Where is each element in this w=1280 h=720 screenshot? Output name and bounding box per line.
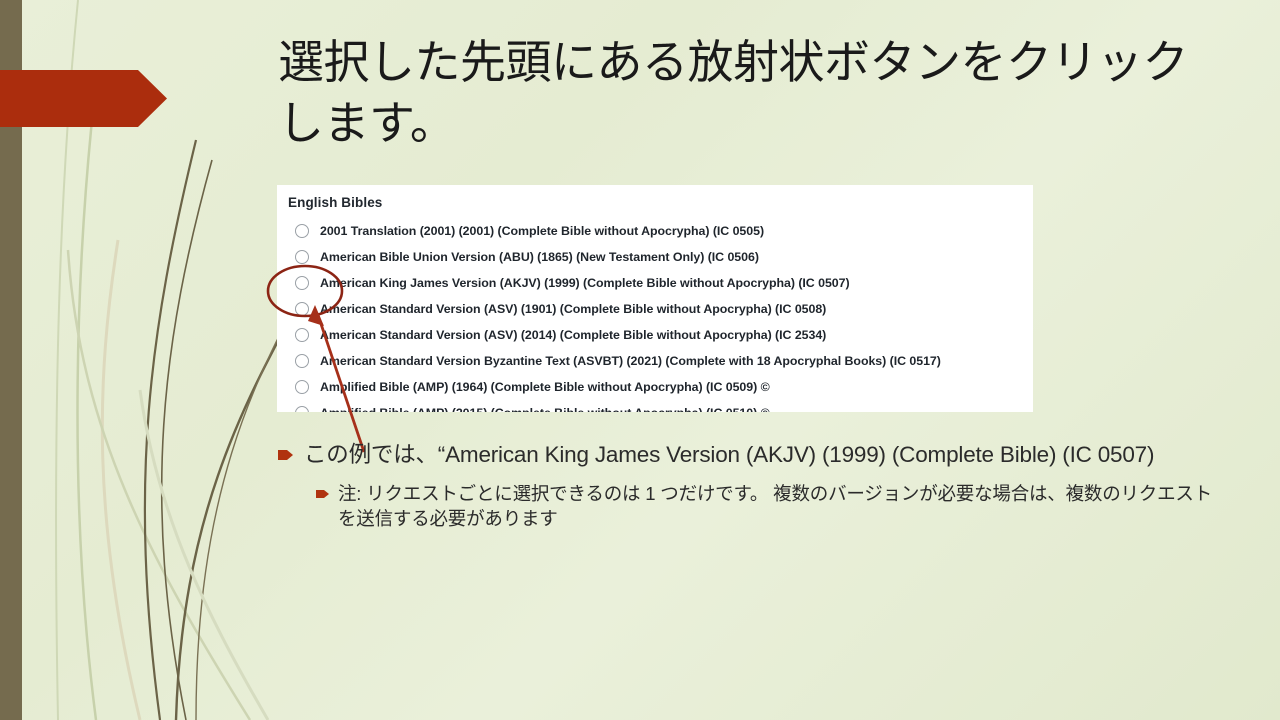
list-item[interactable]: American Standard Version (ASV) (1901) (… [277, 296, 1033, 322]
bible-option-list: 2001 Translation (2001) (2001) (Complete… [277, 218, 1033, 412]
slide-canvas: 選択した先頭にある放射状ボタンをクリックします。 English Bibles … [0, 0, 1280, 720]
bullet-text: 注: リクエストごとに選択できるのは 1 つだけです。 複数のバージョンが必要な… [338, 482, 1213, 532]
radio-button-icon[interactable] [295, 406, 309, 412]
radio-button-icon[interactable] [295, 328, 309, 342]
list-item-akjv[interactable]: American King James Version (AKJV) (1999… [277, 270, 1033, 296]
list-item-label: American King James Version (AKJV) (1999… [320, 276, 850, 290]
radio-button-icon[interactable] [295, 224, 309, 238]
list-item-label: American Bible Union Version (ABU) (1865… [320, 250, 759, 264]
bullet-item-primary: この例では、“American King James Version (AKJV… [278, 440, 1213, 470]
bullet-item-secondary: 注: リクエストごとに選択できるのは 1 つだけです。 複数のバージョンが必要な… [316, 482, 1213, 532]
panel-heading: English Bibles [288, 195, 382, 210]
list-item[interactable]: American Standard Version Byzantine Text… [277, 348, 1033, 374]
list-item-label: American Standard Version (ASV) (2014) (… [320, 328, 826, 342]
radio-button-icon[interactable] [295, 380, 309, 394]
list-item-label: Amplified Bible (AMP) (2015) (Complete B… [320, 406, 770, 412]
radio-button-icon[interactable] [295, 276, 309, 290]
bullet-arrow-icon [278, 449, 293, 461]
list-item[interactable]: Amplified Bible (AMP) (2015) (Complete B… [277, 400, 1033, 412]
list-item-label: 2001 Translation (2001) (2001) (Complete… [320, 224, 764, 238]
body-bullets: この例では、“American King James Version (AKJV… [278, 440, 1213, 532]
list-item[interactable]: Amplified Bible (AMP) (1964) (Complete B… [277, 374, 1033, 400]
red-arrow-banner [0, 70, 167, 127]
list-item-label: Amplified Bible (AMP) (1964) (Complete B… [320, 380, 770, 394]
bullet-text: この例では、“American King James Version (AKJV… [304, 440, 1154, 470]
list-item[interactable]: American Standard Version (ASV) (2014) (… [277, 322, 1033, 348]
radio-button-icon[interactable] [295, 354, 309, 368]
list-item[interactable]: 2001 Translation (2001) (2001) (Complete… [277, 218, 1033, 244]
radio-button-icon[interactable] [295, 250, 309, 264]
radio-button-icon[interactable] [295, 302, 309, 316]
bible-version-panel: English Bibles 2001 Translation (2001) (… [277, 185, 1033, 412]
list-item[interactable]: American Bible Union Version (ABU) (1865… [277, 244, 1033, 270]
list-item-label: American Standard Version (ASV) (1901) (… [320, 302, 826, 316]
list-item-label: American Standard Version Byzantine Text… [320, 354, 941, 368]
bullet-arrow-icon [316, 489, 329, 499]
page-title: 選択した先頭にある放射状ボタンをクリックします。 [278, 32, 1208, 153]
